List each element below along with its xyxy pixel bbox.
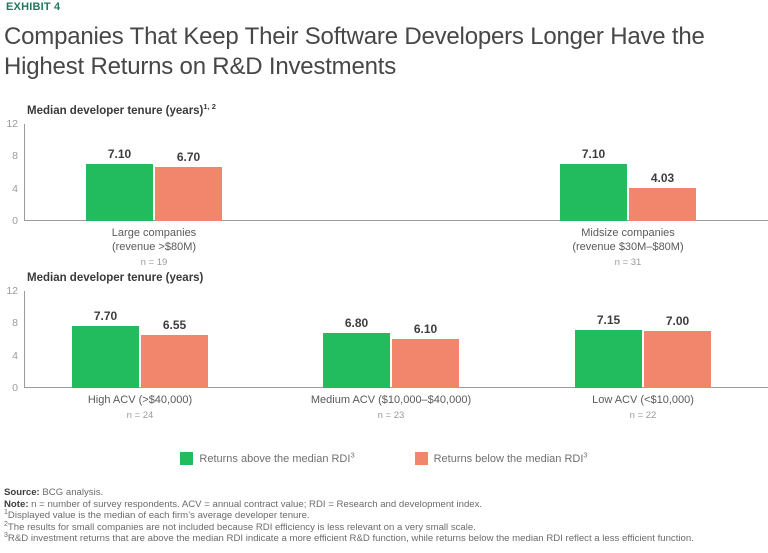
bar-below-median (141, 335, 208, 388)
bar-value-label: 7.00 (644, 314, 711, 328)
footnote-2: 2The results for small companies are not… (4, 522, 764, 534)
legend-swatch-icon (415, 452, 428, 465)
bar-above-median (86, 164, 153, 221)
footnote-source-label: Source: (4, 487, 40, 498)
footnote-1-text: Displayed value is the median of each fi… (8, 510, 310, 521)
page-title: Companies That Keep Their Software Devel… (4, 22, 756, 82)
legend-label: Returns below the median RDI3 (434, 453, 588, 465)
y-axis-tick: 12 (0, 118, 18, 130)
chart-top-axis-title-sup: 1, 2 (203, 102, 216, 111)
exhibit-label: EXHIBIT 4 (6, 1, 60, 13)
x-axis-group-label: Low ACV (<$10,000)n = 22 (493, 393, 768, 423)
chart-top-axis-title-text: Median developer tenure (years) (27, 105, 203, 117)
y-axis-tick: 4 (0, 183, 18, 195)
legend-green: Returns above the median RDI3 (180, 452, 354, 465)
legend-swatch-icon (180, 452, 193, 465)
bar-above-median (560, 164, 627, 221)
bar-value-label: 6.55 (141, 318, 208, 332)
footnote-1: 1Displayed value is the median of each f… (4, 510, 764, 522)
footnote-note-label: Note: (4, 499, 29, 510)
bar-below-median (392, 339, 459, 388)
y-axis-tick: 8 (0, 317, 18, 329)
legend-red: Returns below the median RDI3 (415, 452, 588, 465)
chart-top: Median developer tenure (years)1, 2 7.10… (0, 105, 768, 255)
footnote-note-text: n = number of survey respondents. ACV = … (29, 499, 483, 510)
sample-size-label: n = 19 (4, 256, 304, 270)
chart-top-bars: 7.106.707.104.03 (24, 124, 764, 221)
footnotes: Source: BCG analysis. Note: n = number o… (4, 487, 764, 545)
bar-value-label: 7.70 (72, 309, 139, 323)
chart-legend: Returns above the median RDI3Returns bel… (0, 452, 768, 465)
chart-top-plot: 7.106.707.104.03 04812Large companies(re… (24, 124, 764, 221)
sample-size-label: n = 22 (493, 409, 768, 423)
bar-value-label: 6.70 (155, 150, 222, 164)
bar-value-label: 7.10 (560, 147, 627, 161)
bar-above-median (323, 333, 390, 388)
bar-below-median (629, 188, 696, 221)
bar-value-label: 4.03 (629, 171, 696, 185)
footnote-3: 3R&D investment returns that are above t… (4, 533, 764, 545)
chart-bottom-axis-title-text: Median developer tenure (years) (27, 272, 203, 284)
x-axis-group-label: Midsize companies(revenue $30M–$80M)n = … (478, 226, 768, 270)
footnote-note: Note: n = number of survey respondents. … (4, 499, 764, 511)
bar-above-median (72, 326, 139, 388)
y-axis-tick: 4 (0, 350, 18, 362)
bar-below-median (155, 167, 222, 221)
chart-bottom-axis-title: Median developer tenure (years) (27, 272, 203, 284)
bar-above-median (575, 330, 642, 388)
x-axis-group-label: Large companies(revenue >$80M)n = 19 (4, 226, 304, 270)
chart-bottom: Median developer tenure (years) 7.706.55… (0, 272, 768, 437)
bar-value-label: 6.10 (392, 322, 459, 336)
chart-top-axis-title: Median developer tenure (years)1, 2 (27, 105, 216, 117)
bar-value-label: 7.15 (575, 313, 642, 327)
chart-bottom-bars: 7.706.556.806.107.157.00 (24, 291, 764, 388)
footnote-2-text: The results for small companies are not … (8, 522, 476, 533)
legend-label: Returns above the median RDI3 (199, 453, 354, 465)
bar-below-median (644, 331, 711, 388)
y-axis-tick: 12 (0, 285, 18, 297)
footnote-3-text: R&D investment returns that are above th… (8, 533, 694, 544)
chart-bottom-plot: 7.706.556.806.107.157.00 04812High ACV (… (24, 291, 764, 388)
sample-size-label: n = 31 (478, 256, 768, 270)
footnote-source-text: BCG analysis. (40, 487, 103, 498)
footnote-source: Source: BCG analysis. (4, 487, 764, 499)
bar-value-label: 6.80 (323, 316, 390, 330)
bar-value-label: 7.10 (86, 147, 153, 161)
y-axis-tick: 8 (0, 150, 18, 162)
